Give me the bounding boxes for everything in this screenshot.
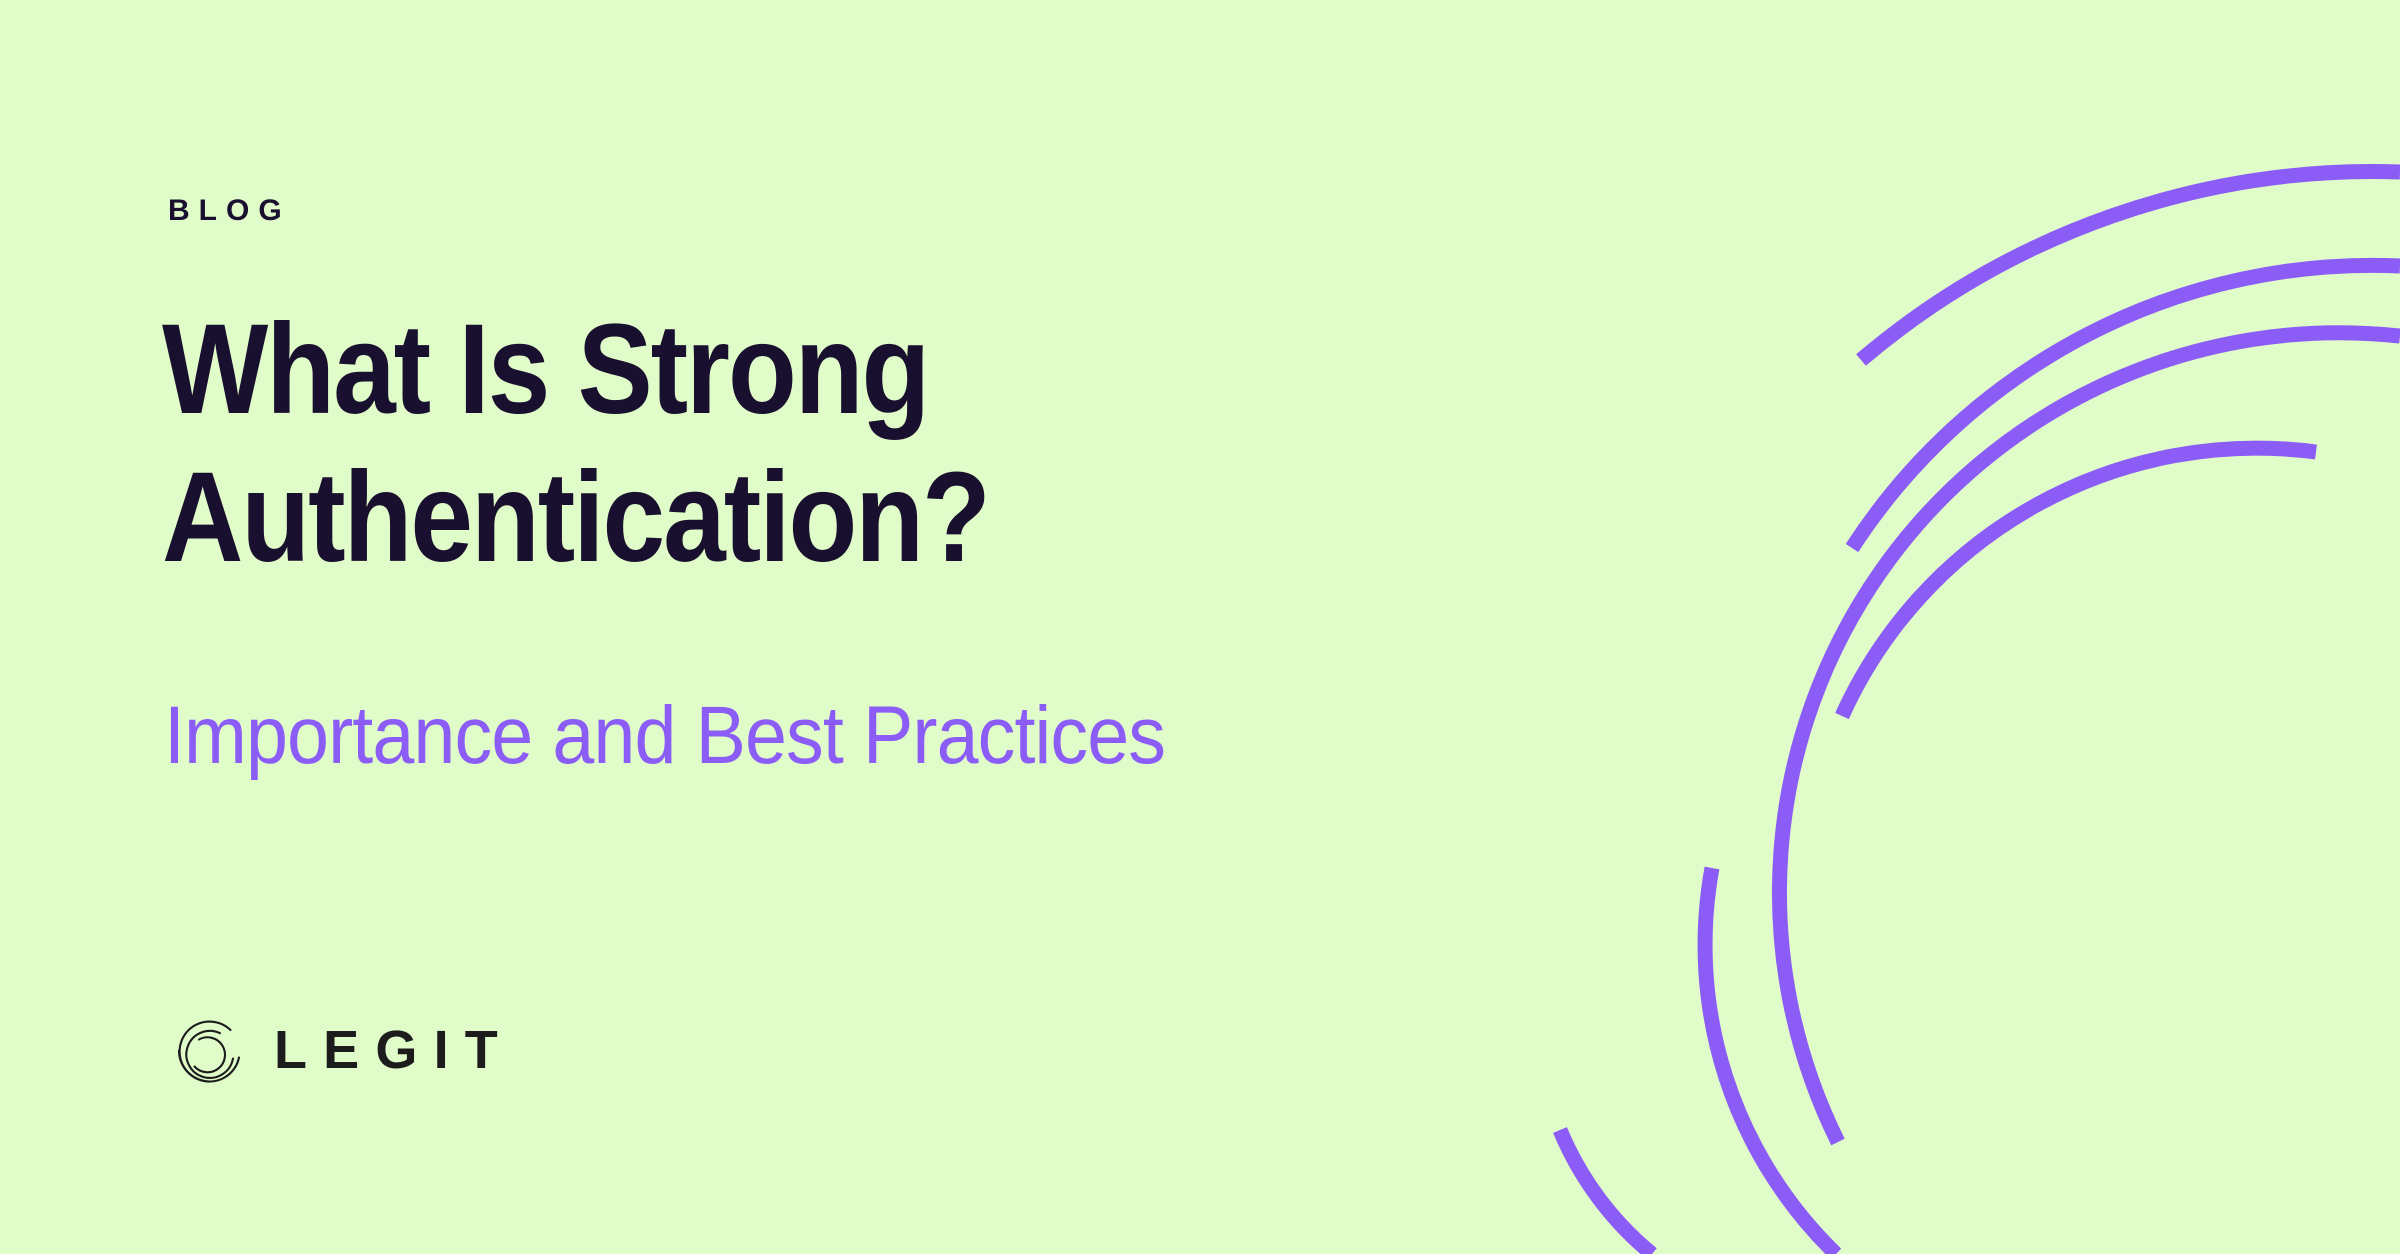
arc-inner-medium xyxy=(1705,868,1836,1254)
arc-inner-large xyxy=(1779,333,2400,1142)
blog-social-card: BLOG What Is Strong Authentication? Impo… xyxy=(0,0,2400,1254)
legit-mark-icon xyxy=(168,1008,252,1092)
arc-outer-3 xyxy=(1842,448,2316,716)
arc-outer-1 xyxy=(1861,172,2400,360)
legit-wordmark: LEGIT xyxy=(274,1023,514,1077)
arc-inner-small xyxy=(1560,1130,1652,1254)
legit-logo: LEGIT xyxy=(168,1008,514,1092)
page-title: What Is Strong Authentication? xyxy=(162,296,1359,593)
eyebrow-label: BLOG xyxy=(168,196,291,226)
arc-outer-2 xyxy=(1852,265,2400,548)
page-subtitle: Importance and Best Practices xyxy=(164,690,1452,782)
